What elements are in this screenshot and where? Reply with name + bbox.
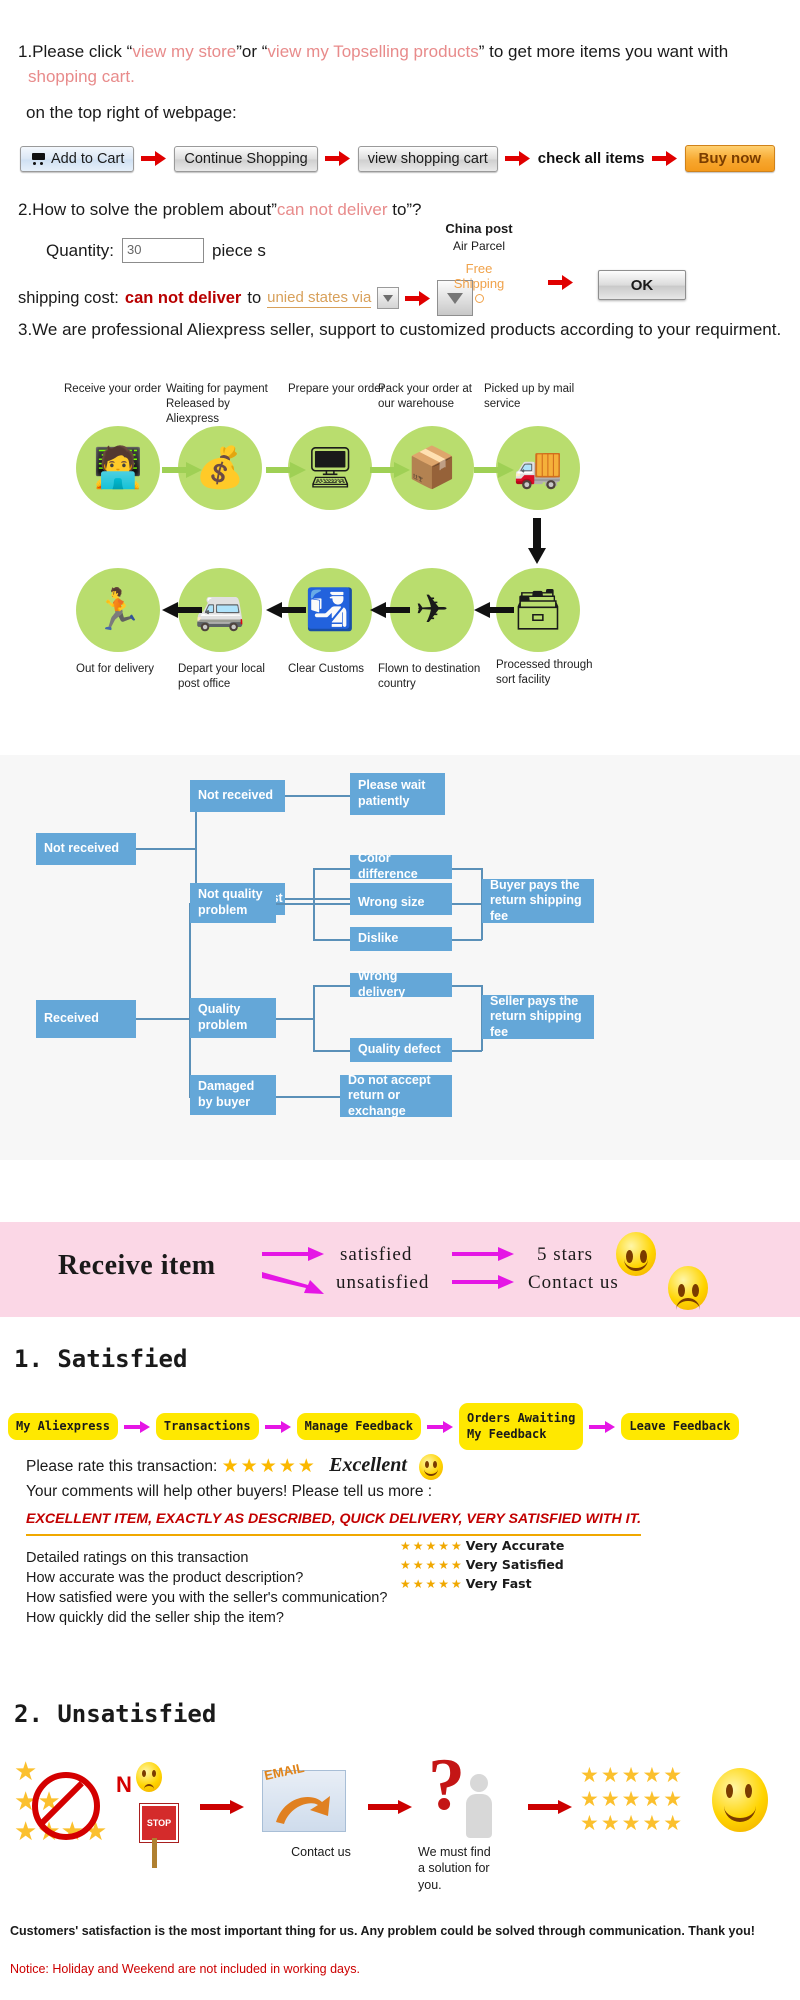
table-row: ★★★★★ Very Fast xyxy=(400,1575,564,1592)
stop-sign-icon: STOP xyxy=(140,1804,178,1842)
s2-title-suffix: to”? xyxy=(388,200,422,219)
person-body-icon xyxy=(466,1794,492,1838)
question-mark-icon: ? xyxy=(428,1756,465,1815)
arrow-right-icon xyxy=(124,1421,150,1433)
arrow-left-icon xyxy=(162,602,202,618)
continue-shopping-label: Continue Shopping xyxy=(184,151,307,167)
flow-line xyxy=(452,939,482,941)
arrow-right-icon xyxy=(262,1246,324,1262)
detail-stars-3: ★★★★★ xyxy=(400,1575,464,1592)
caption-solution: We must find a solution for you. xyxy=(418,1844,528,1893)
view-shopping-cart-button[interactable]: view shopping cart xyxy=(358,146,498,172)
unsatisfied-section: 2. Unsatisfied ★ ★★ ★★★★ N STOP EMAIL xyxy=(0,1700,800,1728)
flow-box-please-wait: Please wait patiently xyxy=(350,773,445,815)
flow-box-not-received-root: Not received xyxy=(36,833,136,865)
flow-box-color-difference: Color difference xyxy=(350,855,452,879)
detail-label-3: Very Fast xyxy=(466,1575,565,1592)
detail-stars-2: ★★★★★ xyxy=(400,1556,464,1573)
label-unsatisfied: unsatisfied xyxy=(336,1272,429,1294)
detail-stars-1: ★★★★★ xyxy=(400,1537,464,1554)
flow-line xyxy=(452,903,482,905)
checkout-flow-buttons: Add to Cart Continue Shopping view shopp… xyxy=(20,145,775,172)
flow-line xyxy=(313,985,315,1051)
flow-line xyxy=(276,1096,342,1098)
arrow-right-icon xyxy=(452,1246,514,1262)
receive-item-title: Receive item xyxy=(58,1250,216,1282)
check-all-items-label: check all items xyxy=(538,150,645,167)
flow-box-not-received-child: Not received xyxy=(190,780,285,812)
flow-line xyxy=(313,985,351,987)
shipping-dropdown-small[interactable] xyxy=(377,287,399,309)
arrow-right-icon xyxy=(505,151,531,166)
detail-label-2: Very Satisfied xyxy=(466,1556,565,1573)
flow-box-seller-pays: Seller pays the return shipping fee xyxy=(482,995,594,1039)
product-description-page: 1.Please click “view my store”or “view m… xyxy=(0,0,800,2000)
stop-sign-label: STOP xyxy=(147,1818,171,1828)
quantity-unit: piece s xyxy=(212,241,266,261)
table-row: ★★★★★ Very Accurate xyxy=(400,1537,564,1554)
buy-now-button[interactable]: Buy now xyxy=(685,145,776,172)
flow-line xyxy=(136,1018,190,1020)
flow-box-wrong-size: Wrong size xyxy=(350,891,452,915)
reply-arrow-icon xyxy=(272,1788,334,1828)
china-post-line2: Air Parcel xyxy=(424,238,534,254)
flow-line xyxy=(313,903,351,905)
table-row: ★★★★★ Very Satisfied xyxy=(400,1556,564,1573)
buy-now-label: Buy now xyxy=(699,150,762,167)
big-happy-face-icon xyxy=(712,1768,768,1832)
step-leave-feedback[interactable]: Leave Feedback xyxy=(621,1413,738,1441)
stop-pole xyxy=(152,1838,157,1868)
arrow-right-icon xyxy=(162,462,202,478)
shipping-cost-row: shipping cost:can not deliver to unied s… xyxy=(18,280,473,316)
section-1-paragraph: 1.Please click “view my store”or “view m… xyxy=(0,40,800,89)
flow-line xyxy=(452,985,482,987)
detail-label-1: Very Accurate xyxy=(466,1537,565,1554)
arrow-left-icon xyxy=(474,602,514,618)
section-3-title: 3.We are professional Aliexpress seller,… xyxy=(0,320,800,340)
free-shipping-option[interactable]: Free Shipping xyxy=(424,262,534,303)
s2-title-highlight: can not deliver xyxy=(277,200,388,219)
ok-button[interactable]: OK xyxy=(598,270,686,300)
track-label-pack-order: Pack your order at our warehouse xyxy=(378,382,478,412)
radio-icon[interactable] xyxy=(475,294,484,303)
caption-contact-us: Contact us xyxy=(276,1844,366,1860)
satisfied-section: 1. Satisfied My Aliexpress Transactions … xyxy=(0,1345,800,1373)
order-tracking-flow: Receive your order Waiting for payment R… xyxy=(0,382,800,712)
track-label-depart-post: Depart your local post office xyxy=(178,662,278,692)
flow-line xyxy=(285,898,352,900)
arrow-right-icon xyxy=(325,151,351,166)
arrow-right-icon xyxy=(474,462,514,478)
returns-policy-flowchart: Not received Not received Returned/Lost … xyxy=(0,755,800,1160)
flow-box-buyer-pays: Buyer pays the return shipping fee xyxy=(482,879,594,923)
section-2-cannot-deliver: 2.How to solve the problem about”can not… xyxy=(0,200,800,220)
flow-box-wrong-delivery: Wrong delivery xyxy=(350,973,452,997)
cart-icon xyxy=(30,152,46,165)
flow-line xyxy=(313,939,351,941)
flow-box-no-return: Do not accept return or exchange xyxy=(340,1075,452,1117)
rating-stars[interactable]: ★★★★★ xyxy=(222,1457,315,1476)
comments-prompt: Your comments will help other buyers! Pl… xyxy=(26,1480,786,1503)
rate-label: Please rate this transaction: xyxy=(26,1458,217,1475)
arrow-right-icon xyxy=(427,1421,453,1433)
track-label-receive-order: Receive your order xyxy=(64,382,164,397)
arrow-right-down-icon xyxy=(262,1272,324,1294)
delivery-man-icon: 🏃 xyxy=(76,568,160,652)
arrow-down-icon xyxy=(528,518,546,566)
arrow-right-icon xyxy=(452,1274,514,1290)
arrow-left-icon xyxy=(370,602,410,618)
person-computer-icon: 🧑‍💻 xyxy=(76,426,160,510)
arrow-right-icon xyxy=(266,462,306,478)
arrow-right-icon xyxy=(589,1421,615,1433)
arrow-right-icon xyxy=(141,151,167,166)
flow-line xyxy=(285,795,352,797)
footer-notice: Notice: Holiday and Weekend are not incl… xyxy=(10,1962,360,1976)
flow-line xyxy=(276,903,314,905)
flow-line xyxy=(313,868,351,870)
flow-box-received-root: Received xyxy=(36,1000,136,1038)
section-3-customization: 3.We are professional Aliexpress seller,… xyxy=(0,320,800,340)
ok-button-label: OK xyxy=(631,277,654,294)
section-1-store-links: 1.Please click “view my store”or “view m… xyxy=(0,40,800,123)
track-label-waiting-payment: Waiting for payment Released by Aliexpre… xyxy=(166,382,281,427)
label-five-stars: 5 stars xyxy=(537,1244,593,1266)
track-label-flown: Flown to destination country xyxy=(378,662,488,692)
person-head-icon xyxy=(470,1774,488,1792)
happy-face-icon xyxy=(616,1232,656,1276)
detail-question-3: How quickly did the seller ship the item… xyxy=(26,1608,786,1628)
label-contact-us: Contact us xyxy=(528,1272,619,1294)
shipping-country-select[interactable]: unied states via xyxy=(267,289,371,308)
quantity-input[interactable]: 30 xyxy=(122,238,204,263)
happy-face-icon xyxy=(419,1454,443,1480)
track-label-out-for-delivery: Out for delivery xyxy=(76,662,176,677)
step-transactions[interactable]: Transactions xyxy=(156,1413,259,1441)
flow-line xyxy=(452,868,482,870)
track-label-sort-facility: Processed through sort facility xyxy=(496,658,606,688)
flow-box-quality-defect: Quality defect xyxy=(350,1038,452,1062)
arrow-right-icon xyxy=(368,1800,412,1814)
arrow-right-icon xyxy=(528,1800,572,1814)
comment-text: EXCELLENT ITEM, EXACTLY AS DESCRIBED, QU… xyxy=(26,1509,641,1535)
quantity-label: Quantity: xyxy=(46,241,114,261)
track-label-clear-customs: Clear Customs xyxy=(288,662,388,677)
china-post-label: China post Air Parcel xyxy=(424,220,534,254)
rating-word: Excellent xyxy=(329,1454,407,1476)
arrow-right-icon xyxy=(265,1421,291,1433)
track-label-picked-up: Picked up by mail service xyxy=(484,382,584,412)
add-to-cart-button[interactable]: Add to Cart xyxy=(20,146,134,172)
arrow-right-icon xyxy=(548,275,574,290)
shipping-cost-warning: can not deliver xyxy=(125,289,241,308)
rating-row: Please rate this transaction: ★★★★★ Exce… xyxy=(26,1450,786,1480)
s1-text-line2: on the top right of webpage: xyxy=(0,89,800,123)
flow-box-not-quality: Not quality problem xyxy=(190,883,276,923)
arrow-left-icon xyxy=(266,602,306,618)
shipping-cost-label: shipping cost: xyxy=(18,289,119,308)
prohibition-icon xyxy=(32,1772,100,1840)
step-manage-feedback[interactable]: Manage Feedback xyxy=(297,1413,421,1441)
link-view-my-store[interactable]: view my store xyxy=(132,42,236,61)
s1-text-wrap: shopping cart. xyxy=(18,65,800,90)
flow-box-quality: Quality problem xyxy=(190,998,276,1038)
s1-text-mid: ”or “ xyxy=(236,42,267,61)
china-post-line1: China post xyxy=(424,220,534,238)
flow-line xyxy=(313,1050,351,1052)
five-star-grid: ★★★★★★★★★★★★★★★ xyxy=(580,1764,705,1836)
flow-line xyxy=(452,1050,482,1052)
label-satisfied: satisfied xyxy=(340,1244,412,1266)
flow-box-dislike: Dislike xyxy=(350,927,452,951)
sad-face-icon xyxy=(668,1266,708,1310)
s1-text-prefix: 1.Please click “ xyxy=(18,42,132,61)
flow-line xyxy=(276,1018,314,1020)
step-my-aliexpress[interactable]: My Aliexpress xyxy=(8,1413,118,1441)
free-shipping-line1: Free xyxy=(466,261,493,276)
view-shopping-cart-label: view shopping cart xyxy=(368,151,488,167)
arrow-right-icon xyxy=(652,151,678,166)
s1-text-suffix: ” to get more items you want with xyxy=(479,42,728,61)
no-letter: N xyxy=(116,1772,132,1798)
quantity-row: Quantity: 30 piece s xyxy=(46,238,266,263)
feedback-steps: My Aliexpress Transactions Manage Feedba… xyxy=(8,1403,739,1450)
footer-message: Customers' satisfaction is the most impo… xyxy=(10,1922,790,1940)
crying-face-icon xyxy=(136,1762,162,1792)
receive-item-band: Receive item satisfied unsatisfied 5 sta… xyxy=(0,1222,800,1317)
arrow-right-icon xyxy=(370,462,410,478)
shipping-cost-to: to xyxy=(247,289,261,308)
continue-shopping-button[interactable]: Continue Shopping xyxy=(174,146,317,172)
satisfied-heading: 1. Satisfied xyxy=(0,1345,800,1373)
detailed-ratings-scores: ★★★★★ Very Accurate ★★★★★ Very Satisfied… xyxy=(398,1535,566,1594)
arrow-right-icon xyxy=(200,1800,244,1814)
flow-line xyxy=(136,848,196,850)
chevron-down-icon xyxy=(383,295,393,302)
section-2-title: 2.How to solve the problem about”can not… xyxy=(0,200,800,220)
link-view-my-topselling[interactable]: view my Topselling products xyxy=(267,42,478,61)
free-shipping-line2: Shipping xyxy=(454,276,505,291)
unsatisfied-heading: 2. Unsatisfied xyxy=(0,1700,800,1728)
s2-title-prefix: 2.How to solve the problem about” xyxy=(18,200,277,219)
flow-box-damaged: Damaged by buyer xyxy=(190,1075,276,1115)
unsatisfied-flow: ★ ★★ ★★★★ N STOP EMAIL Contact us ? xyxy=(0,1748,800,1898)
step-orders-awaiting[interactable]: Orders Awaiting My Feedback xyxy=(459,1403,583,1450)
add-to-cart-label: Add to Cart xyxy=(51,151,124,167)
